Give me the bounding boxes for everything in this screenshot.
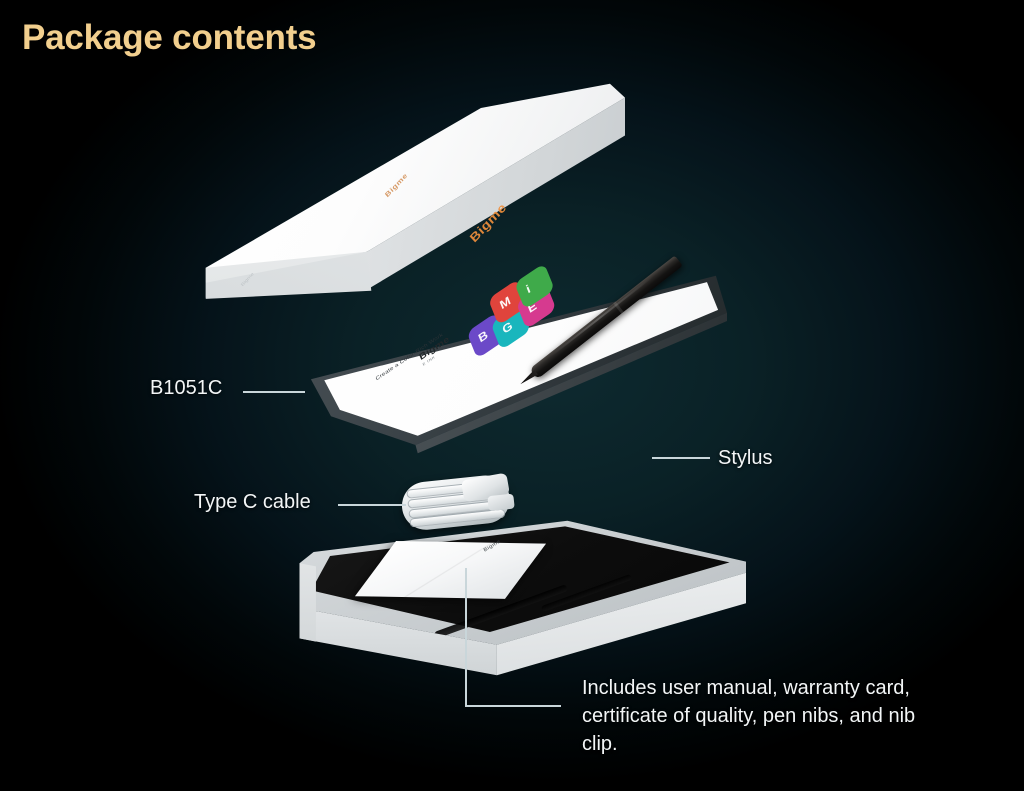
documents-line-2: certificate of quality, pen nibs, and ni… xyxy=(582,705,915,727)
color-tile-label: B xyxy=(477,329,490,345)
tablet-device: B G M E i Bigme E INK Create a Color-Ric… xyxy=(282,272,727,457)
color-tile-label: i xyxy=(524,283,531,296)
callout-leader-stylus xyxy=(652,457,710,459)
callout-leader-documents-horizontal xyxy=(465,705,561,707)
product-package-scene: Package contents Bigme Bigme Bigme B G M… xyxy=(0,0,1024,791)
color-tile-label: M xyxy=(498,295,512,312)
callout-label-documents: Includes user manual, warranty card, cer… xyxy=(582,674,982,758)
callout-label-tablet: B1051C xyxy=(150,377,222,400)
package-tray: Bigme xyxy=(276,520,746,680)
callout-label-cable: Type C cable xyxy=(194,491,311,514)
documents-line-3: clip. xyxy=(582,733,618,755)
callout-leader-cable xyxy=(338,504,406,506)
page-title: Package contents xyxy=(22,18,316,58)
callout-leader-documents-vertical xyxy=(465,568,467,706)
documents-line-1: Includes user manual, warranty card, xyxy=(582,677,910,699)
cable-connector-plug xyxy=(487,494,514,512)
callout-label-stylus: Stylus xyxy=(718,447,772,470)
callout-leader-tablet xyxy=(243,391,305,393)
